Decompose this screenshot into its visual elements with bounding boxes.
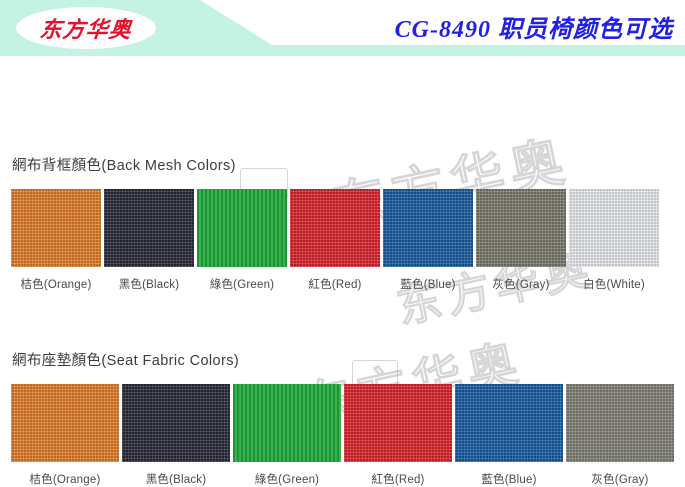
mesh-texture (122, 384, 230, 462)
swatch-item[interactable]: 黑色(Black) (104, 189, 194, 292)
swatch-label: 紅色(Red) (290, 276, 380, 292)
page-title: CG-8490 职员椅颜色可选 (395, 9, 673, 44)
swatch-item[interactable]: 綠色(Green) (197, 189, 287, 292)
swatch-label: 綠色(Green) (233, 471, 341, 487)
swatch-item[interactable]: 灰色(Gray) (566, 384, 674, 487)
swatch-label: 灰色(Gray) (476, 276, 566, 292)
mesh-texture (383, 189, 473, 267)
swatch-label: 藍色(Blue) (455, 471, 563, 487)
brand-logo-text: 东方华奥 (38, 12, 133, 44)
swatch-item[interactable]: 桔色(Orange) (11, 384, 119, 487)
mesh-texture (455, 384, 563, 462)
color-swatch-blue[interactable] (455, 384, 563, 462)
swatch-item[interactable]: 黑色(Black) (122, 384, 230, 487)
swatch-item[interactable]: 綠色(Green) (233, 384, 341, 487)
swatch-label: 藍色(Blue) (383, 276, 473, 292)
swatch-row-seat-fabric: 桔色(Orange) 黑色(Black) 綠色(Green) 紅色(Red) 藍 (11, 384, 674, 487)
color-swatch-orange[interactable] (11, 384, 119, 462)
color-swatch-orange[interactable] (11, 189, 101, 267)
swatch-label: 綠色(Green) (197, 276, 287, 292)
color-swatch-black[interactable] (104, 189, 194, 267)
color-swatch-gray[interactable] (566, 384, 674, 462)
swatch-label: 灰色(Gray) (566, 471, 674, 487)
swatch-label: 紅色(Red) (344, 471, 452, 487)
swatch-item[interactable]: 藍色(Blue) (455, 384, 563, 487)
brand-logo: 东方华奥 (16, 7, 156, 49)
mesh-texture (11, 384, 119, 462)
mesh-texture (233, 384, 341, 462)
swatch-label: 黑色(Black) (122, 471, 230, 487)
color-swatch-black[interactable] (122, 384, 230, 462)
swatch-item[interactable]: 白色(White) (569, 189, 659, 292)
color-swatch-green[interactable] (233, 384, 341, 462)
color-swatch-gray[interactable] (476, 189, 566, 267)
swatch-label: 桔色(Orange) (11, 276, 101, 292)
mesh-texture (197, 189, 287, 267)
color-swatch-white[interactable] (569, 189, 659, 267)
swatch-label: 黑色(Black) (104, 276, 194, 292)
swatch-item[interactable]: 藍色(Blue) (383, 189, 473, 292)
color-swatch-blue[interactable] (383, 189, 473, 267)
color-swatch-red[interactable] (290, 189, 380, 267)
mesh-texture (566, 384, 674, 462)
swatch-label: 桔色(Orange) (11, 471, 119, 487)
color-swatch-green[interactable] (197, 189, 287, 267)
mesh-texture (476, 189, 566, 267)
swatch-row-back-mesh: 桔色(Orange) 黑色(Black) 綠色(Green) 紅色(Red) 藍 (11, 189, 659, 292)
page-header: 东方华奥 CG-8490 职员椅颜色可选 (0, 0, 685, 58)
mesh-texture (344, 384, 452, 462)
mesh-texture (11, 189, 101, 267)
mesh-texture (569, 189, 659, 267)
swatch-label: 白色(White) (569, 276, 659, 292)
swatch-item[interactable]: 紅色(Red) (290, 189, 380, 292)
swatch-item[interactable]: 紅色(Red) (344, 384, 452, 487)
swatch-item[interactable]: 灰色(Gray) (476, 189, 566, 292)
section-title-seat-fabric: 網布座墊顏色(Seat Fabric Colors) (12, 349, 239, 370)
color-swatch-red[interactable] (344, 384, 452, 462)
swatch-item[interactable]: 桔色(Orange) (11, 189, 101, 292)
section-title-back-mesh: 網布背框顏色(Back Mesh Colors) (12, 154, 236, 175)
mesh-texture (290, 189, 380, 267)
mesh-texture (104, 189, 194, 267)
